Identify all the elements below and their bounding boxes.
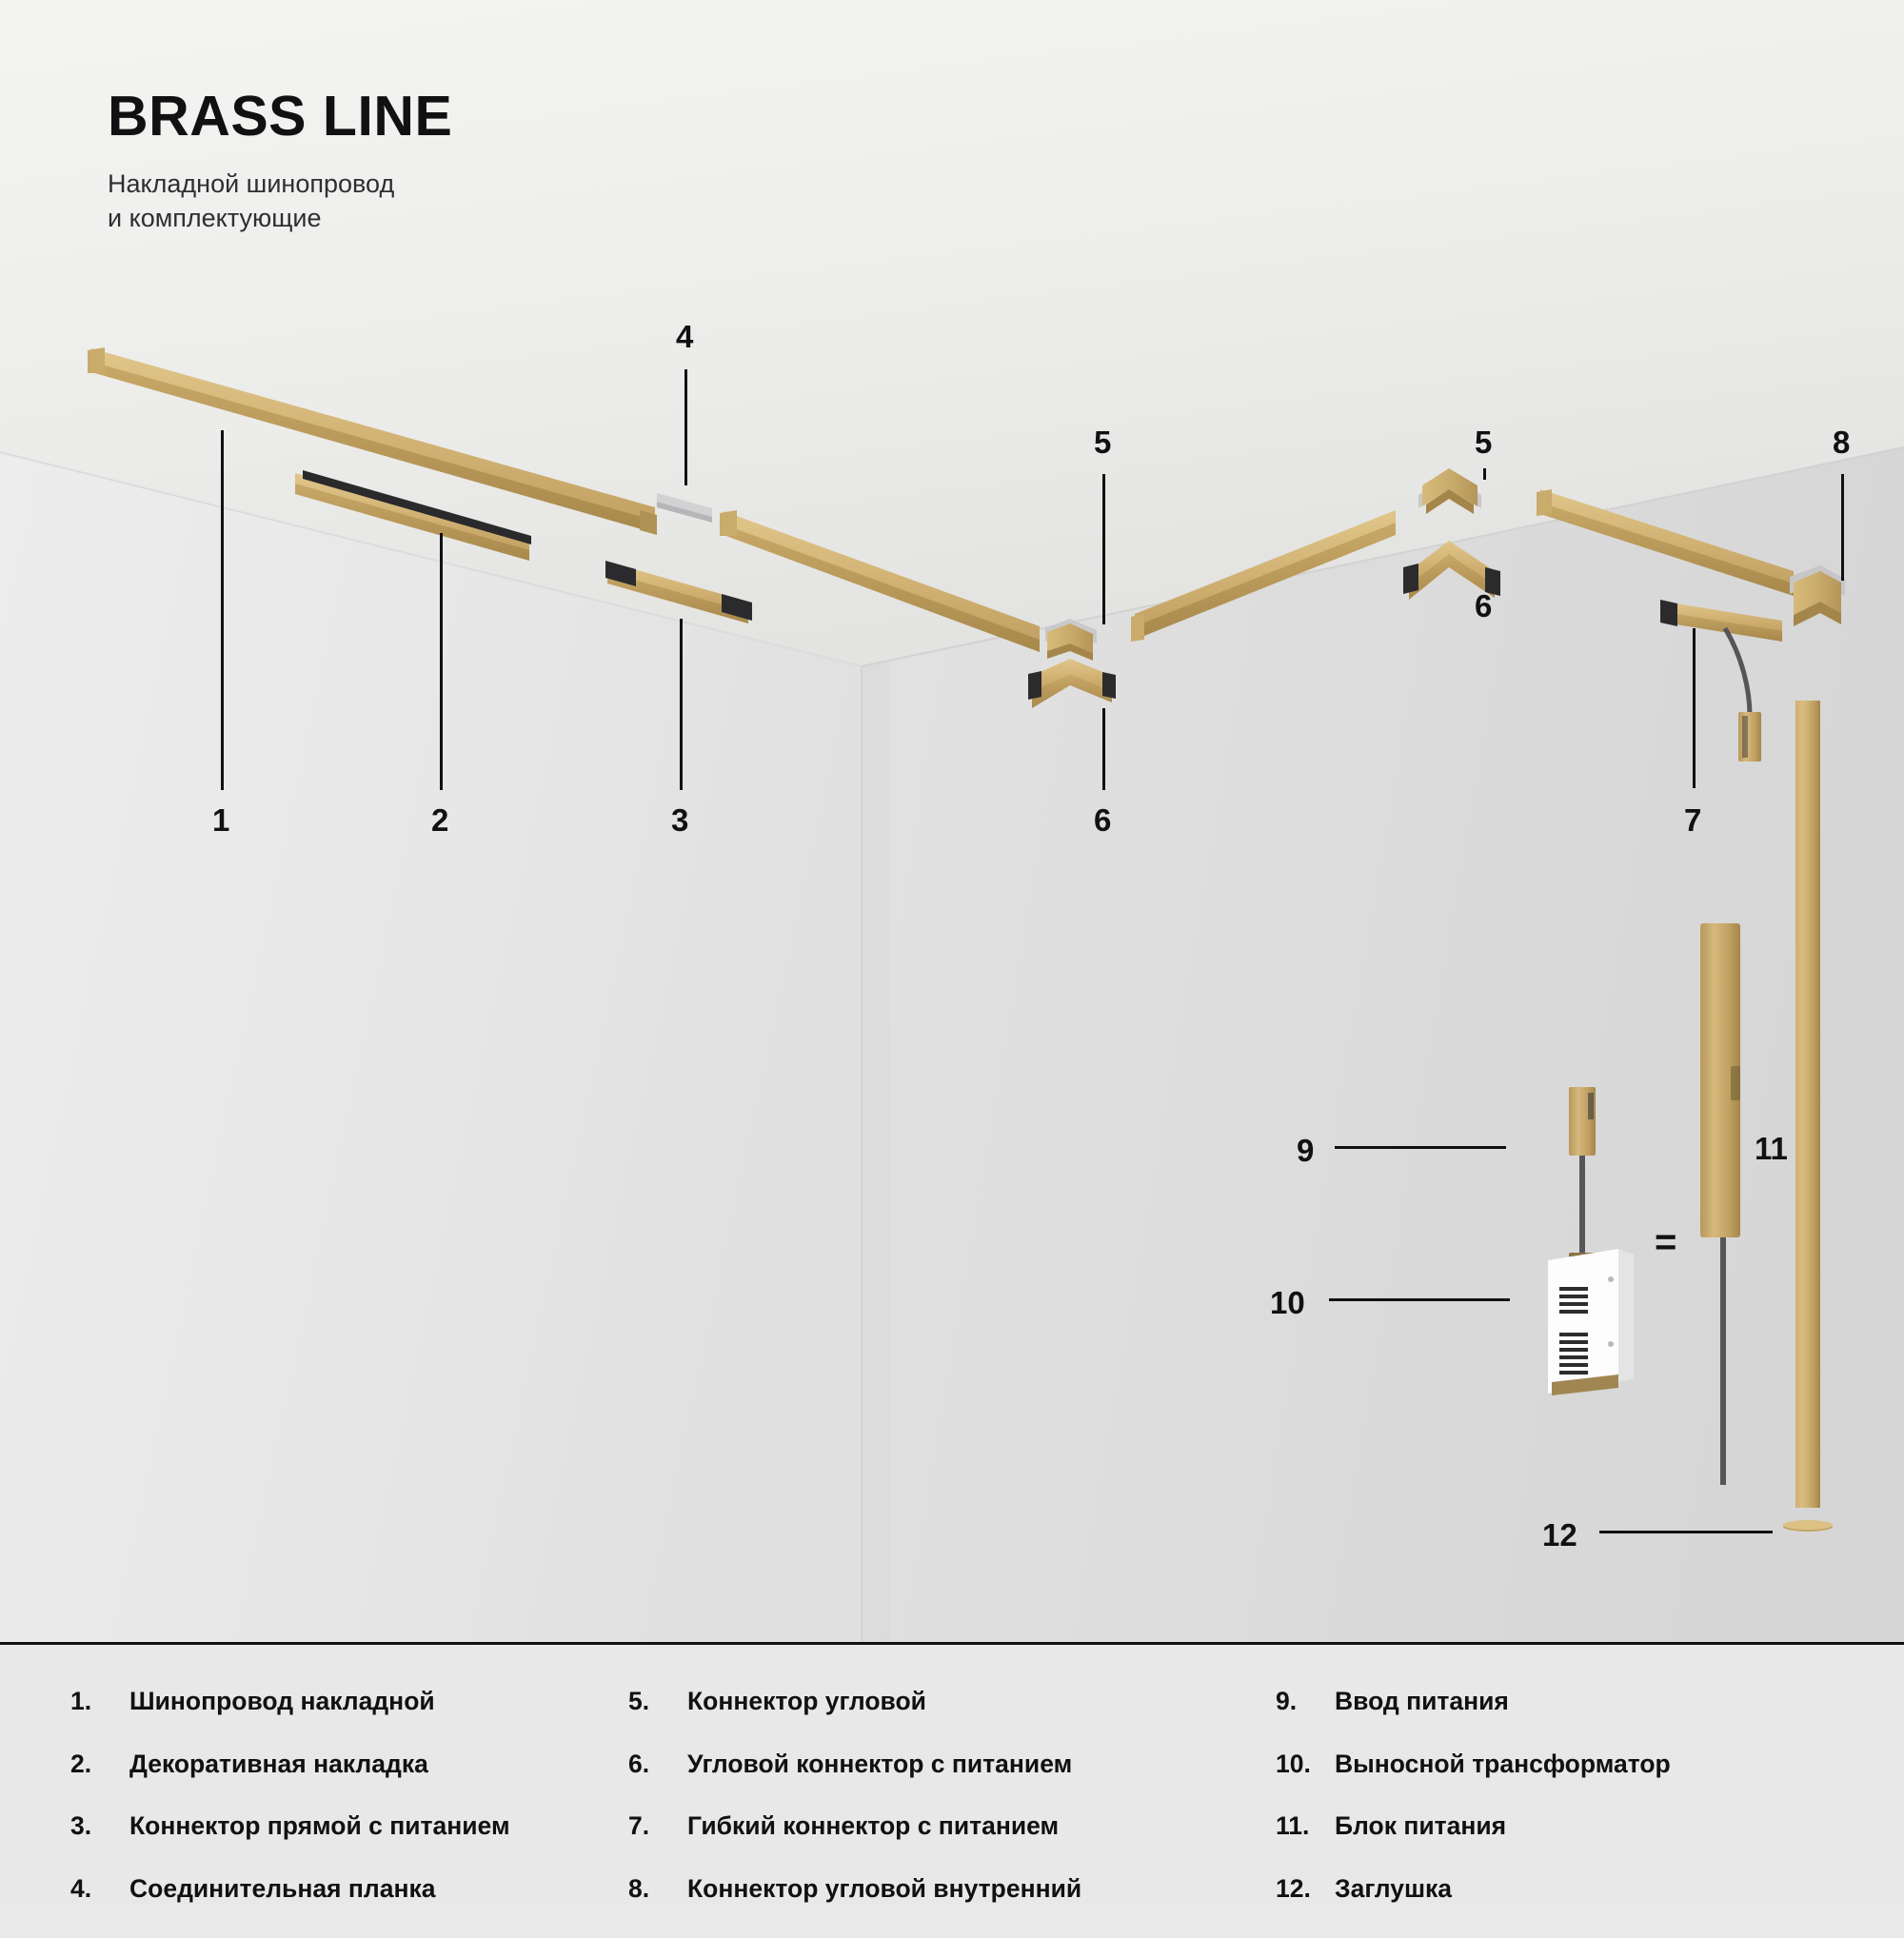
legend-item: 8. Коннектор угловой внутренний [628,1876,1276,1902]
room-3d-render [0,0,1904,1642]
leader-line-10 [1329,1298,1510,1301]
legend-index: 10. [1276,1751,1335,1777]
end-cap-12 [1783,1520,1833,1532]
vertical-track-rail [1795,701,1820,1508]
legend-label: Шинопровод накладной [129,1689,435,1714]
legend-column-2: 5. Коннектор угловой 6. Угловой коннекто… [628,1689,1276,1938]
callout-number-4: 4 [676,321,693,352]
legend-index: 8. [628,1876,687,1902]
callout-number-6b: 6 [1475,590,1492,622]
legend-index: 9. [1276,1689,1335,1714]
callout-number-9: 9 [1297,1135,1314,1166]
legend-item: 11. Блок питания [1276,1813,1904,1839]
legend-item: 12. Заглушка [1276,1876,1904,1902]
leader-line-7 [1693,628,1696,788]
legend-item: 1. Шинопровод накладной [70,1689,628,1714]
legend-index: 2. [70,1751,129,1777]
leader-line-1 [221,430,224,790]
legend-item: 5. Коннектор угловой [628,1689,1276,1714]
callout-number-10: 10 [1270,1287,1305,1318]
leader-line-4 [684,369,687,485]
callout-number-2: 2 [431,804,448,836]
callout-number-5a: 5 [1094,426,1111,458]
legend-index: 7. [628,1813,687,1839]
leader-line-5b [1483,468,1486,480]
legend-index: 5. [628,1689,687,1714]
legend-index: 4. [70,1876,129,1902]
legend-label: Коннектор прямой с питанием [129,1813,510,1839]
legend-label: Ввод питания [1335,1689,1509,1714]
legend-label: Коннектор угловой внутренний [687,1876,1081,1902]
legend-label: Коннектор угловой [687,1689,926,1714]
legend-label: Блок питания [1335,1813,1506,1839]
legend-index: 1. [70,1689,129,1714]
legend-item: 3. Коннектор прямой с питанием [70,1813,628,1839]
legend-label: Выносной трансформатор [1335,1751,1671,1777]
legend-item: 4. Соединительная планка [70,1876,628,1902]
callout-number-3: 3 [671,804,688,836]
legend-label: Гибкий коннектор с питанием [687,1813,1059,1839]
legend-label: Угловой коннектор с питанием [687,1751,1072,1777]
legend-label: Соединительная планка [129,1876,435,1902]
leader-line-3 [680,619,683,790]
callout-number-7: 7 [1684,804,1701,836]
page-subtitle: Накладной шинопровод и комплектующие [108,167,452,236]
callout-number-1: 1 [212,804,229,836]
legend-column-1: 1. Шинопровод накладной 2. Декоративная … [0,1689,628,1938]
callout-number-8: 8 [1833,426,1850,458]
legend-item: 2. Декоративная накладка [70,1751,628,1777]
callout-number-12: 12 [1542,1519,1577,1551]
leader-line-5a [1102,474,1105,624]
equals-symbol: = [1655,1223,1676,1261]
page-title: BRASS LINE [108,88,452,147]
legend-label: Декоративная накладка [129,1751,428,1777]
legend-index: 6. [628,1751,687,1777]
legend-item: 6. Угловой коннектор с питанием [628,1751,1276,1777]
leader-line-9 [1335,1146,1506,1149]
legend-item: 10. Выносной трансформатор [1276,1751,1904,1777]
legend-item: 9. Ввод питания [1276,1689,1904,1714]
callout-number-6a: 6 [1094,804,1111,836]
legend: 1. Шинопровод накладной 2. Декоративная … [0,1645,1904,1904]
legend-index: 12. [1276,1876,1335,1902]
product-diagram-page: BRASS LINE Накладной шинопровод и компле… [0,0,1904,1904]
callout-number-5b: 5 [1475,426,1492,458]
callout-number-11: 11 [1755,1133,1788,1164]
leader-line-12 [1599,1531,1773,1533]
leader-line-6a [1102,708,1105,790]
leader-line-2 [440,533,443,790]
legend-item: 7. Гибкий коннектор с питанием [628,1813,1276,1839]
legend-column-3: 9. Ввод питания 10. Выносной трансформат… [1276,1689,1904,1938]
title-block: BRASS LINE Накладной шинопровод и компле… [108,88,452,236]
legend-index: 3. [70,1813,129,1839]
leader-line-8 [1841,474,1844,581]
remote-transformer [1548,1249,1634,1395]
legend-index: 11. [1276,1813,1335,1839]
legend-label: Заглушка [1335,1876,1452,1902]
